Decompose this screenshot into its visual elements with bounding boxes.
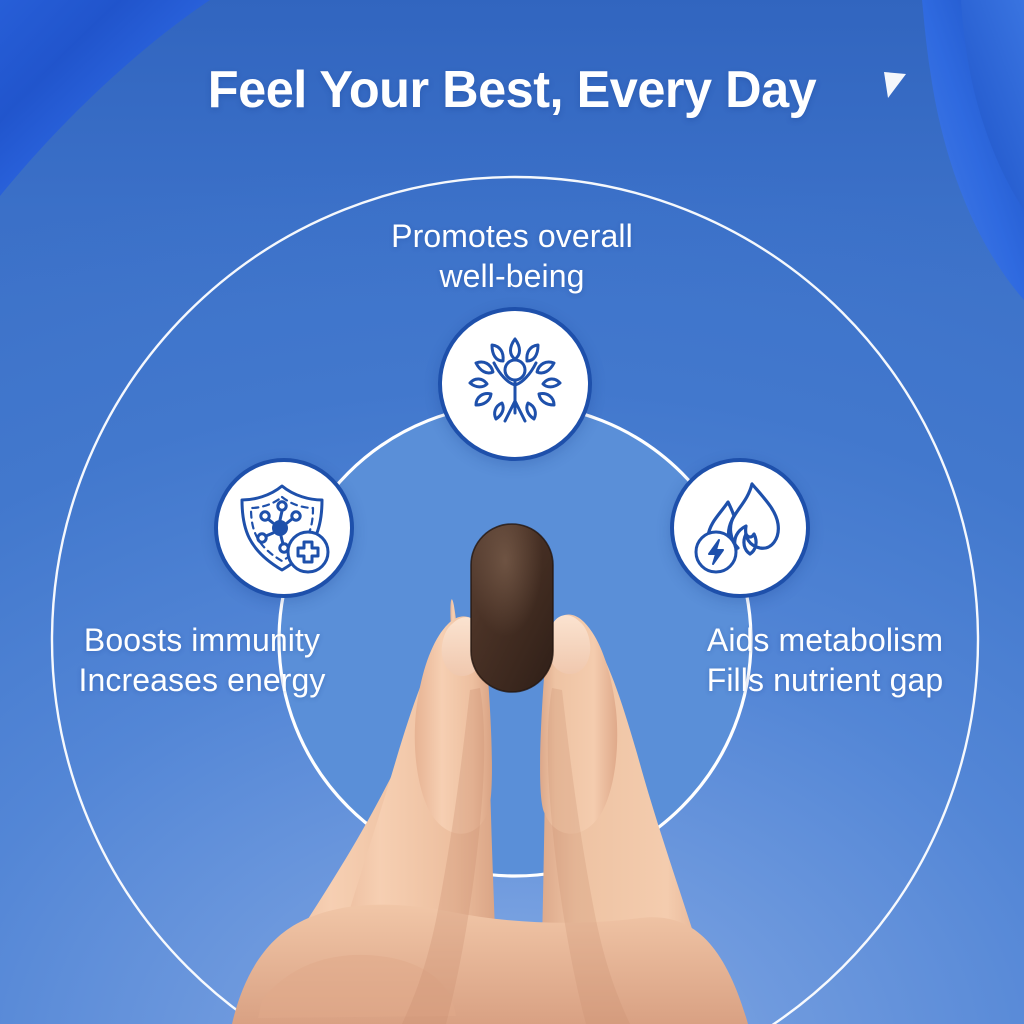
infographic-canvas: Feel Your Best, Every Day	[0, 0, 1024, 1024]
page-title: Feel Your Best, Every Day	[15, 60, 1008, 120]
benefit-icon-immunity[interactable]	[214, 458, 354, 598]
benefit-label-well-being: Promotes overall well-being	[272, 216, 752, 297]
shield-molecule-cross-icon	[232, 476, 336, 580]
person-with-leaves-icon	[456, 325, 574, 443]
benefit-icon-metabolism[interactable]	[670, 458, 810, 598]
flame-lightning-icon	[688, 476, 792, 580]
benefit-label-metabolism: Aids metabolism Fills nutrient gap	[645, 620, 1005, 701]
tablet	[471, 524, 553, 692]
benefit-label-immunity: Boosts immunity Increases energy	[22, 620, 382, 701]
hand-holding-tablet-photo	[0, 0, 1024, 1024]
benefit-icon-well-being[interactable]	[438, 307, 592, 461]
